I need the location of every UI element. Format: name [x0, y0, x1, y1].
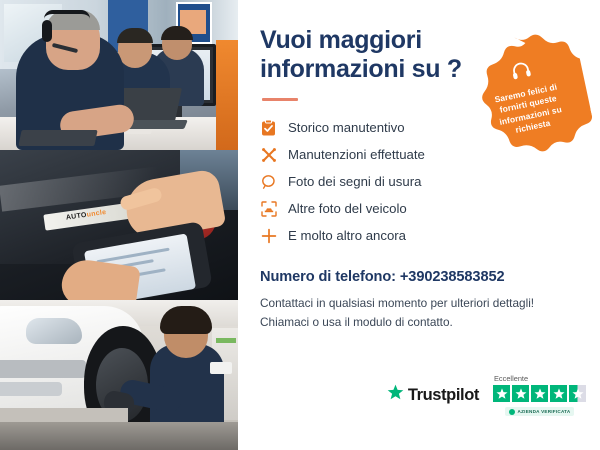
contact-subtext-line-2: Chiamaci o usa il modulo di contatto.	[260, 313, 578, 332]
plus-icon	[260, 227, 277, 244]
contact-subtext: Contattaci in qualsiasi momento per ulte…	[260, 294, 578, 332]
search-circle-icon	[260, 173, 277, 190]
car-frame-icon	[260, 200, 277, 217]
feature-label: E molto altro ancora	[288, 228, 406, 243]
request-info-badge: Saremo felici di fornirti queste informa…	[455, 23, 597, 165]
feature-item-altre-foto-veicolo: Altre foto del veicolo	[260, 195, 578, 222]
call-center-photo	[0, 0, 238, 150]
trustpilot-widget[interactable]: Trustpilot Eccellente AZIENDA VERIFICATA	[260, 374, 586, 416]
clipboard-check-icon	[260, 119, 277, 136]
phone-number[interactable]: Numero di telefono: +390238583852	[260, 269, 578, 285]
star-filled	[531, 385, 548, 402]
trustpilot-rating: Eccellente AZIENDA VERIFICATA	[493, 374, 586, 416]
workshop-photo	[0, 300, 238, 450]
star-filled	[550, 385, 567, 402]
headset-icon	[509, 60, 533, 87]
promo-banner: AUTOuncle Vuoi maggiori informazioni su …	[0, 0, 600, 450]
feature-item-molto-altro: E molto altro ancora	[260, 222, 578, 249]
feature-item-foto-segni-usura: Foto dei segni di usura	[260, 168, 578, 195]
feature-label: Manutenzioni effettuate	[288, 147, 425, 162]
trustpilot-rating-word: Eccellente	[494, 374, 528, 383]
crossed-tools-icon	[260, 146, 277, 163]
photo-column: AUTOuncle	[0, 0, 238, 450]
inspection-photo: AUTOuncle	[0, 150, 238, 300]
badge-text: Saremo felici di fornirti queste informa…	[482, 79, 577, 141]
star-half	[569, 385, 586, 402]
trustpilot-logo[interactable]: Trustpilot	[387, 384, 479, 406]
verified-text: AZIENDA VERIFICATA	[518, 409, 571, 414]
star-filled	[493, 385, 510, 402]
verified-check-icon	[509, 409, 515, 415]
feature-label: Storico manutentivo	[288, 120, 405, 135]
feature-label: Foto dei segni di usura	[288, 174, 421, 189]
contact-subtext-line-1: Contattaci in qualsiasi momento per ulte…	[260, 294, 578, 313]
page-title: Vuoi maggiori informazioni su ?	[260, 26, 475, 84]
verified-company-badge: AZIENDA VERIFICATA	[505, 407, 575, 416]
title-underline	[262, 98, 298, 101]
trustpilot-star-icon	[387, 384, 404, 406]
star-filled	[512, 385, 529, 402]
trustpilot-stars	[493, 385, 586, 402]
trustpilot-name: Trustpilot	[408, 386, 479, 405]
info-panel: Vuoi maggiori informazioni su ? Storico …	[238, 0, 600, 450]
feature-label: Altre foto del veicolo	[288, 201, 407, 216]
